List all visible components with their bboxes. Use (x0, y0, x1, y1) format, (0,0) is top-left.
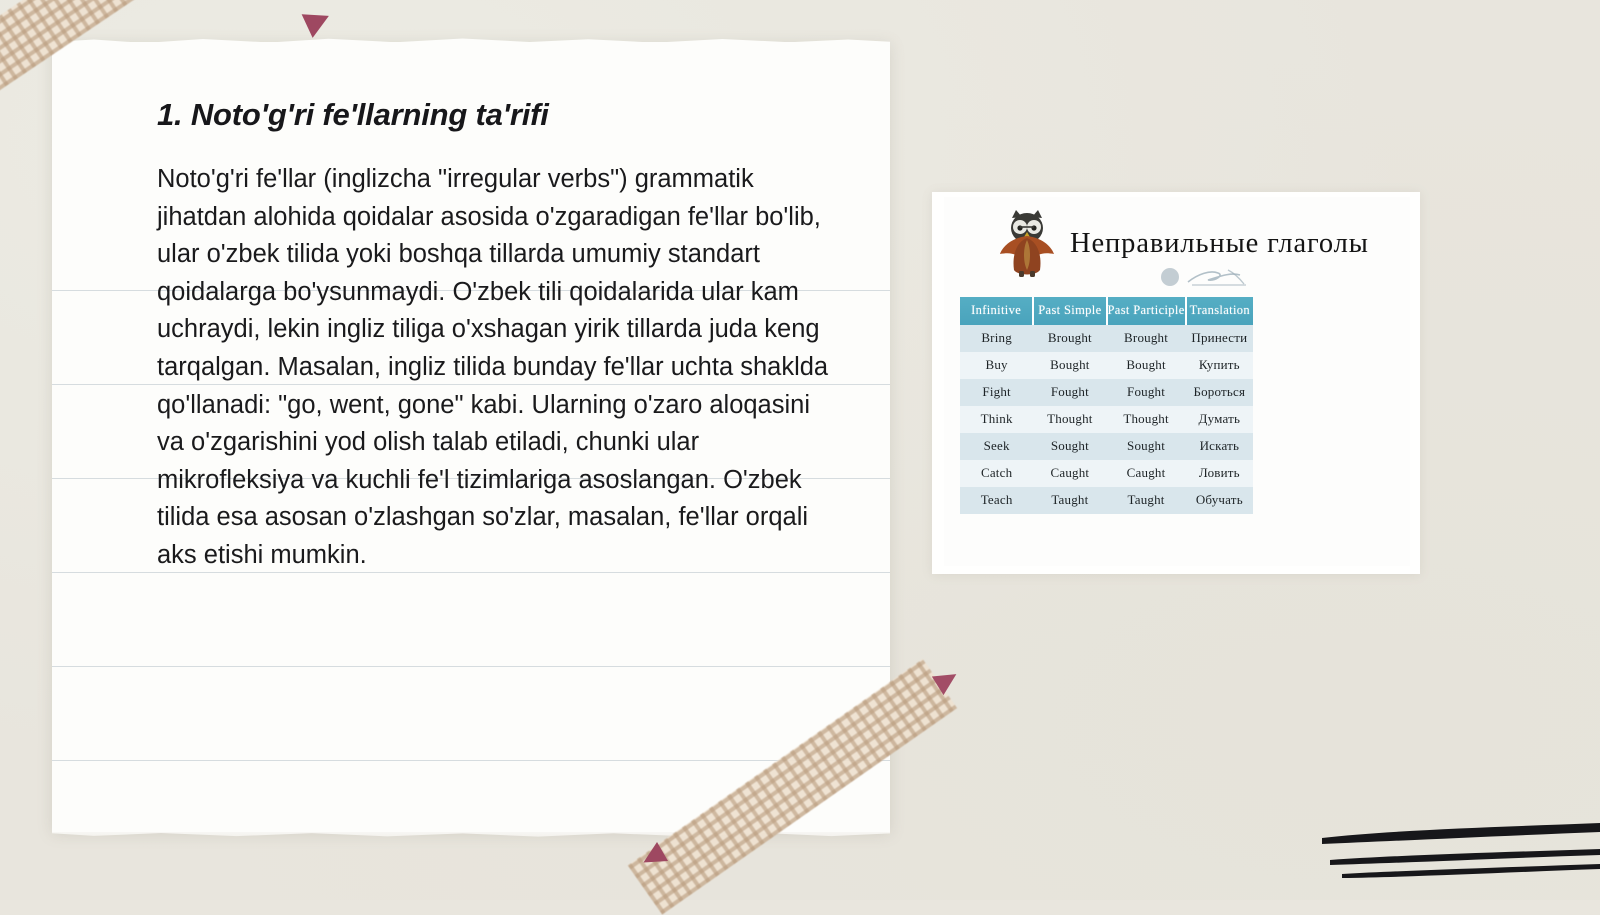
page-title: 1. Noto'g'ri fe'llarning ta'rifi (157, 97, 837, 133)
cell-translation: Думать (1186, 406, 1253, 433)
cell-infinitive: Bring (960, 325, 1033, 352)
card-title: Неправильные глаголы (1070, 228, 1369, 260)
table-row: Bring Brought Brought Принести (960, 325, 1253, 352)
cell-infinitive: Fight (960, 379, 1033, 406)
column-header-past-simple: Past Simple (1033, 297, 1106, 325)
cell-infinitive: Think (960, 406, 1033, 433)
cell-translation: Ловить (1186, 460, 1253, 487)
paper-rule-line (52, 760, 890, 761)
cell-past-participle: Taught (1107, 487, 1186, 514)
cell-past-participle: Bought (1107, 352, 1186, 379)
cell-past-simple: Thought (1033, 406, 1106, 433)
notebook-paper: 1. Noto'g'ri fe'llarning ta'rifi Noto'g'… (52, 42, 890, 832)
cell-past-participle: Brought (1107, 325, 1186, 352)
table-row: Teach Taught Taught Обучать (960, 487, 1253, 514)
card-header: Неправильные глаголы (966, 206, 1396, 292)
cell-past-participle: Sought (1107, 433, 1186, 460)
paper-rule-line (52, 666, 890, 667)
paper-torn-top-edge (52, 36, 890, 46)
cell-translation: Бороться (1186, 379, 1253, 406)
cell-past-simple: Fought (1033, 379, 1106, 406)
owl-icon (994, 208, 1060, 280)
table-row: Catch Caught Caught Ловить (960, 460, 1253, 487)
cell-past-simple: Caught (1033, 460, 1106, 487)
cell-infinitive: Buy (960, 352, 1033, 379)
table-row: Seek Sought Sought Искать (960, 433, 1253, 460)
paper-content: 1. Noto'g'ri fe'llarning ta'rifi Noto'g'… (157, 97, 837, 575)
cell-infinitive: Catch (960, 460, 1033, 487)
cell-translation: Купить (1186, 352, 1253, 379)
column-header-translation: Translation (1186, 297, 1253, 325)
irregular-verbs-table: Infinitive Past Simple Past Participle T… (960, 297, 1253, 514)
cell-past-simple: Sought (1033, 433, 1106, 460)
cell-translation: Обучать (1186, 487, 1253, 514)
cell-past-simple: Brought (1033, 325, 1106, 352)
cell-infinitive: Seek (960, 433, 1033, 460)
table-row: Buy Bought Bought Купить (960, 352, 1253, 379)
cell-past-participle: Caught (1107, 460, 1186, 487)
washi-tape-tip-icon (302, 4, 335, 38)
card-inner-surface: Неправильные глаголы Infinitive (944, 197, 1410, 566)
cell-past-participle: Fought (1107, 379, 1186, 406)
cell-infinitive: Teach (960, 487, 1033, 514)
brush-stroke-lines-icon (1300, 812, 1600, 892)
cell-translation: Принести (1186, 325, 1253, 352)
column-header-past-participle: Past Participle (1107, 297, 1186, 325)
table-header-row: Infinitive Past Simple Past Participle T… (960, 297, 1253, 325)
cell-past-participle: Thought (1107, 406, 1186, 433)
column-header-infinitive: Infinitive (960, 297, 1033, 325)
table-row: Fight Fought Fought Бороться (960, 379, 1253, 406)
scribble-doodle-icon (1158, 264, 1278, 290)
slide-canvas: 1. Noto'g'ri fe'llarning ta'rifi Noto'g'… (0, 0, 1600, 900)
cell-past-simple: Taught (1033, 487, 1106, 514)
table-row: Think Thought Thought Думать (960, 406, 1253, 433)
cell-past-simple: Bought (1033, 352, 1106, 379)
body-paragraph: Noto'g'ri fe'llar (inglizcha "irregular … (157, 161, 829, 575)
irregular-verbs-card: Неправильные глаголы Infinitive (932, 192, 1420, 574)
cell-translation: Искать (1186, 433, 1253, 460)
